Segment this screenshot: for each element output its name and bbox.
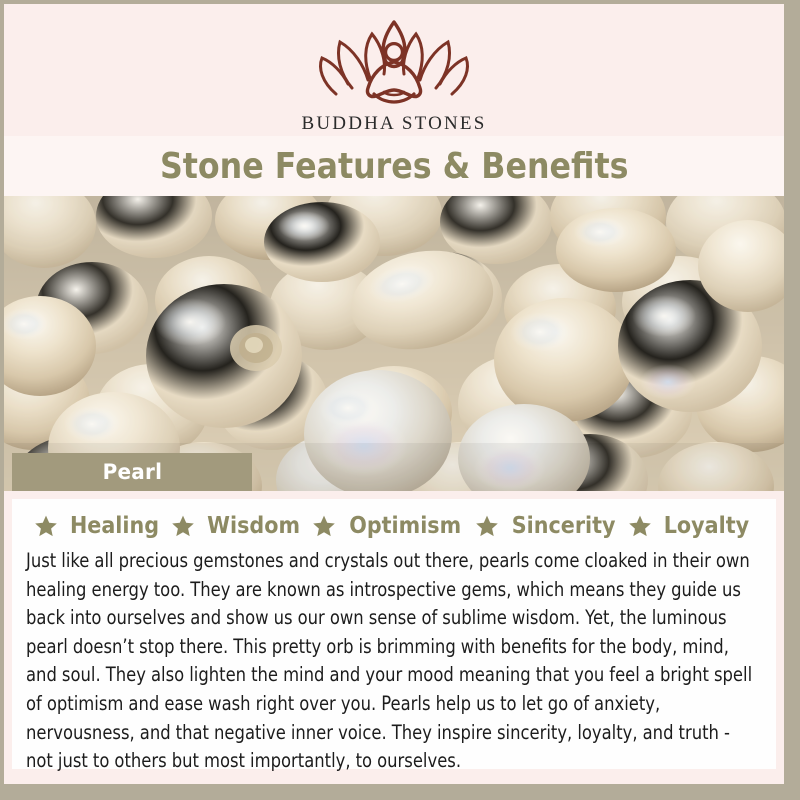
- stone-description: Just like all precious gemstones and cry…: [26, 547, 762, 776]
- infographic-page: BUDDHA STONES Stone Features & Benefits: [0, 0, 800, 800]
- star-icon: [475, 514, 499, 538]
- stone-photo: Pearl: [4, 196, 784, 491]
- description-card: HealingWisdomOptimismSincerityLoyalty Ju…: [12, 499, 776, 769]
- star-icon: [628, 514, 652, 538]
- keyword-label: Healing: [70, 513, 159, 539]
- page-title: Stone Features & Benefits: [160, 146, 629, 187]
- brand-name: BUDDHA STONES: [274, 113, 514, 135]
- page-canvas: BUDDHA STONES Stone Features & Benefits: [4, 4, 784, 784]
- star-icon: [171, 514, 195, 538]
- keyword-label: Wisdom: [207, 513, 300, 539]
- brand-header: BUDDHA STONES: [4, 4, 784, 136]
- keyword-label: Loyalty: [664, 513, 749, 539]
- keyword-label: Optimism: [350, 513, 462, 539]
- pearls-photograph: [4, 196, 784, 491]
- keyword-label: Sincerity: [511, 513, 615, 539]
- brand-logo: BUDDHA STONES: [274, 16, 514, 136]
- keyword-list: HealingWisdomOptimismSincerityLoyalty: [26, 509, 762, 543]
- star-icon: [34, 514, 58, 538]
- title-banner: Stone Features & Benefits: [4, 136, 784, 196]
- star-icon: [312, 514, 336, 538]
- stone-name: Pearl: [102, 460, 162, 484]
- lotus-meditation-icon: [306, 16, 482, 112]
- stone-name-bar: Pearl: [12, 453, 252, 491]
